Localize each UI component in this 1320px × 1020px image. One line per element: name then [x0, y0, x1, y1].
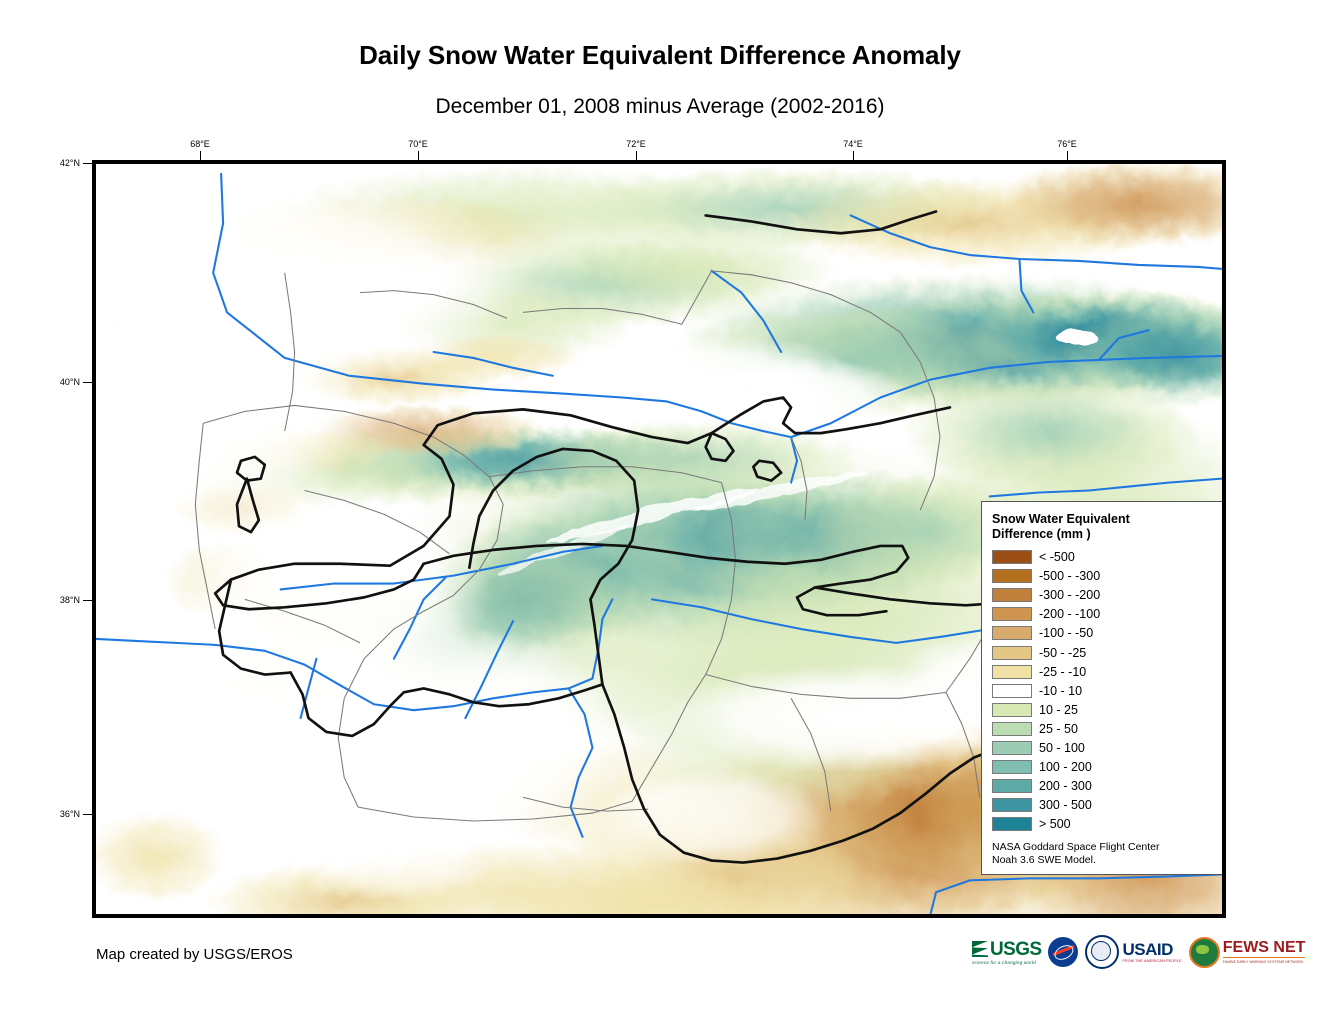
page-title: Daily Snow Water Equivalent Difference A… [0, 40, 1320, 71]
lon-tick-label: 76°E [1057, 139, 1077, 149]
legend-row: -25 - -10 [992, 662, 1218, 681]
legend-row: 300 - 500 [992, 796, 1218, 815]
legend-swatch [992, 798, 1032, 812]
legend-label: < -500 [1039, 550, 1075, 564]
legend-label: -500 - -300 [1039, 569, 1100, 583]
legend-swatch [992, 817, 1032, 831]
lon-tick-label: 74°E [843, 139, 863, 149]
usaid-wordmark: USAID [1122, 941, 1181, 958]
legend-swatch [992, 684, 1032, 698]
legend-row: 50 - 100 [992, 738, 1218, 757]
legend-swatch [992, 646, 1032, 660]
usaid-seal-icon [1085, 935, 1119, 969]
legend-swatch [992, 722, 1032, 736]
logo-strip: USGS science for a changing world USAID … [972, 933, 1305, 971]
legend-label: 200 - 300 [1039, 779, 1092, 793]
legend-label: 10 - 25 [1039, 703, 1078, 717]
legend-title: Snow Water Equivalent Difference (mm ) [992, 512, 1218, 543]
usaid-tagline: FROM THE AMERICAN PEOPLE [1122, 959, 1181, 963]
legend-swatch [992, 569, 1032, 583]
legend-label: 25 - 50 [1039, 722, 1078, 736]
fews-globe-icon [1189, 937, 1220, 968]
usgs-tagline: science for a changing world [972, 960, 1041, 965]
legend-row: 10 - 25 [992, 700, 1218, 719]
legend-label: -200 - -100 [1039, 607, 1100, 621]
legend-swatch [992, 607, 1032, 621]
legend-label: -25 - -10 [1039, 665, 1086, 679]
usgs-wordmark: USGS [990, 940, 1041, 959]
page-subtitle: December 01, 2008 minus Average (2002-20… [0, 95, 1320, 119]
legend-label: 50 - 100 [1039, 741, 1085, 755]
legend-label: 300 - 500 [1039, 798, 1092, 812]
legend-row: 100 - 200 [992, 758, 1218, 777]
legend-row: -200 - -100 [992, 605, 1218, 624]
map-frame[interactable]: Snow Water Equivalent Difference (mm ) <… [92, 160, 1226, 918]
lat-tick-label: 38°N [40, 595, 80, 605]
legend-row: < -500 [992, 548, 1218, 567]
lat-tick-label: 40°N [40, 377, 80, 387]
nasa-logo [1048, 935, 1078, 969]
legend-label: -50 - -25 [1039, 646, 1086, 660]
legend-rows: < -500-500 - -300-300 - -200-200 - -100-… [992, 548, 1218, 834]
legend-row: -300 - -200 [992, 586, 1218, 605]
legend-panel: Snow Water Equivalent Difference (mm ) <… [981, 501, 1226, 875]
legend-label: -10 - 10 [1039, 684, 1082, 698]
legend-row: 25 - 50 [992, 719, 1218, 738]
legend-row: > 500 [992, 815, 1218, 834]
legend-source-note: NASA Goddard Space Flight Center Noah 3.… [992, 841, 1218, 868]
title-block: Daily Snow Water Equivalent Difference A… [0, 0, 1320, 119]
legend-swatch [992, 665, 1032, 679]
usgs-wave-icon [972, 941, 988, 957]
fews-logo: FEWS NET FAMINE EARLY WARNING SYSTEMS NE… [1189, 935, 1306, 969]
fews-tagline: FAMINE EARLY WARNING SYSTEMS NETWORK [1223, 960, 1306, 964]
legend-swatch [992, 760, 1032, 774]
map-credit: Map created by USGS/EROS [96, 946, 293, 963]
usaid-logo: USAID FROM THE AMERICAN PEOPLE [1085, 935, 1181, 969]
legend-row: 200 - 300 [992, 777, 1218, 796]
nasa-meatball-icon [1048, 937, 1078, 967]
legend-label: -300 - -200 [1039, 588, 1100, 602]
lon-tick-label: 72°E [626, 139, 646, 149]
legend-swatch [992, 626, 1032, 640]
legend-row: -100 - -50 [992, 624, 1218, 643]
legend-row: -10 - 10 [992, 681, 1218, 700]
lat-tick-label: 42°N [40, 158, 80, 168]
legend-swatch [992, 588, 1032, 602]
legend-row: -500 - -300 [992, 567, 1218, 586]
usgs-logo: USGS science for a changing world [972, 935, 1041, 969]
legend-swatch [992, 779, 1032, 793]
legend-label: -100 - -50 [1039, 626, 1093, 640]
lat-tick-label: 36°N [40, 809, 80, 819]
legend-row: -50 - -25 [992, 643, 1218, 662]
fews-wordmark: FEWS NET [1223, 940, 1306, 958]
lon-tick-label: 68°E [190, 139, 210, 149]
lon-tick-label: 70°E [408, 139, 428, 149]
legend-swatch [992, 550, 1032, 564]
legend-swatch [992, 703, 1032, 717]
legend-label: > 500 [1039, 817, 1071, 831]
legend-swatch [992, 741, 1032, 755]
legend-label: 100 - 200 [1039, 760, 1092, 774]
